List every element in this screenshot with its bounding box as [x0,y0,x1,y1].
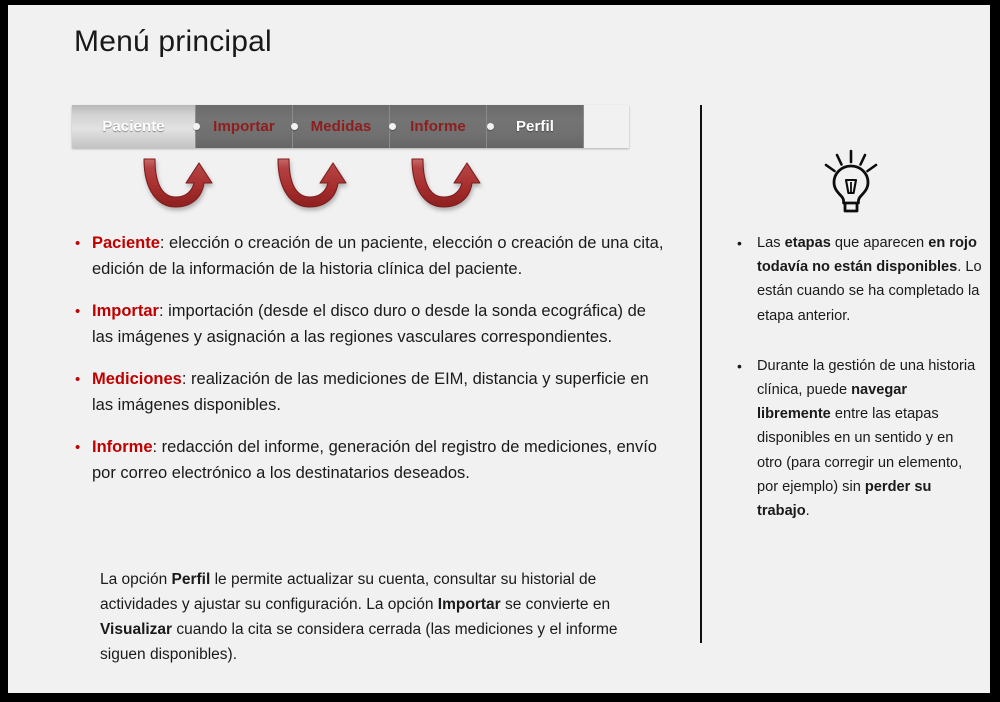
left-bullet-list: • Paciente: elección o creación de un pa… [68,231,668,503]
footer-note: La opción Perfil le permite actualizar s… [100,567,645,667]
bullet-content: Durante la gestión de una historia clíni… [757,354,982,523]
nav-tab-paciente-label: Paciente [102,118,165,135]
nav-tab-paciente[interactable]: Paciente [72,105,196,148]
nav-separator-dot-4 [487,123,494,130]
list-item: • Informe: redacción del informe, genera… [68,435,668,486]
note-part-3: se convierte en [501,596,610,613]
tip-seg: Las [757,235,785,251]
bullet-content: Las etapas que aparecen en rojo todavía … [757,231,982,328]
nav-tab-perfil[interactable]: Perfil [487,105,584,148]
nav-separator-dot-2 [291,123,298,130]
bullet-marker: • [68,299,92,350]
note-part-4: cuando la cita se considera cerrada (las… [100,621,618,663]
tip-seg-bold: etapas [785,235,831,251]
bullet-marker: • [730,231,757,328]
nav-separator-dot-1 [193,123,200,130]
nav-separator-dot-3 [389,123,396,130]
note-bold-perfil: Perfil [172,571,211,588]
bullet-keyword: Mediciones [92,370,182,388]
bullet-body: : redacción del informe, generación del … [92,438,657,482]
workflow-arrow-1 [144,159,212,207]
list-item: • Las etapas que aparecen en rojo todaví… [730,231,982,328]
bullet-marker: • [730,354,757,523]
bullet-body: : elección o creación de un paciente, el… [92,234,663,278]
bullet-keyword: Paciente [92,234,160,252]
bullet-content: Importar: importación (desde el disco du… [92,299,668,350]
note-part-1: La opción [100,571,172,588]
nav-tab-medidas[interactable]: Medidas [293,105,390,148]
workflow-arrow-3 [412,159,480,207]
bullet-content: Paciente: elección o creación de un paci… [92,231,668,282]
bullet-marker: • [68,435,92,486]
tip-seg: que aparecen [831,235,928,251]
list-item: • Importar: importación (desde el disco … [68,299,668,350]
note-bold-visualizar: Visualizar [100,621,172,638]
bullet-content: Mediciones: realización de las medicione… [92,367,668,418]
lightbulb-icon [820,149,882,217]
list-item: • Durante la gestión de una historia clí… [730,354,982,523]
nav-tab-medidas-label: Medidas [311,118,372,135]
bullet-marker: • [68,231,92,282]
nav-tab-importar-label: Importar [213,118,275,135]
bullet-marker: • [68,367,92,418]
workflow-arrow-2 [278,159,346,207]
nav-tab-informe-label: Informe [410,118,466,135]
list-item: • Mediciones: realización de las medicio… [68,367,668,418]
column-divider [700,105,702,643]
page-title: Menú principal [74,25,272,59]
bullet-keyword: Informe [92,438,153,456]
nav-tab-perfil-label: Perfil [516,118,554,135]
nav-tab-importar[interactable]: Importar [196,105,293,148]
list-item: • Paciente: elección o creación de un pa… [68,231,668,282]
workflow-arrows-group [128,149,538,215]
bullet-body: : importación (desde el disco duro o des… [92,302,646,346]
right-bullet-list: • Las etapas que aparecen en rojo todaví… [730,231,982,549]
slide-canvas: Menú principal Paciente Importar Medidas… [8,5,990,693]
note-bold-importar: Importar [438,596,501,613]
bullet-content: Informe: redacción del informe, generaci… [92,435,668,486]
tip-seg: . [806,503,810,519]
bullet-keyword: Importar [92,302,159,320]
main-menu-navbar: Paciente Importar Medidas Informe Perfil [72,105,629,148]
nav-tab-informe[interactable]: Informe [390,105,487,148]
